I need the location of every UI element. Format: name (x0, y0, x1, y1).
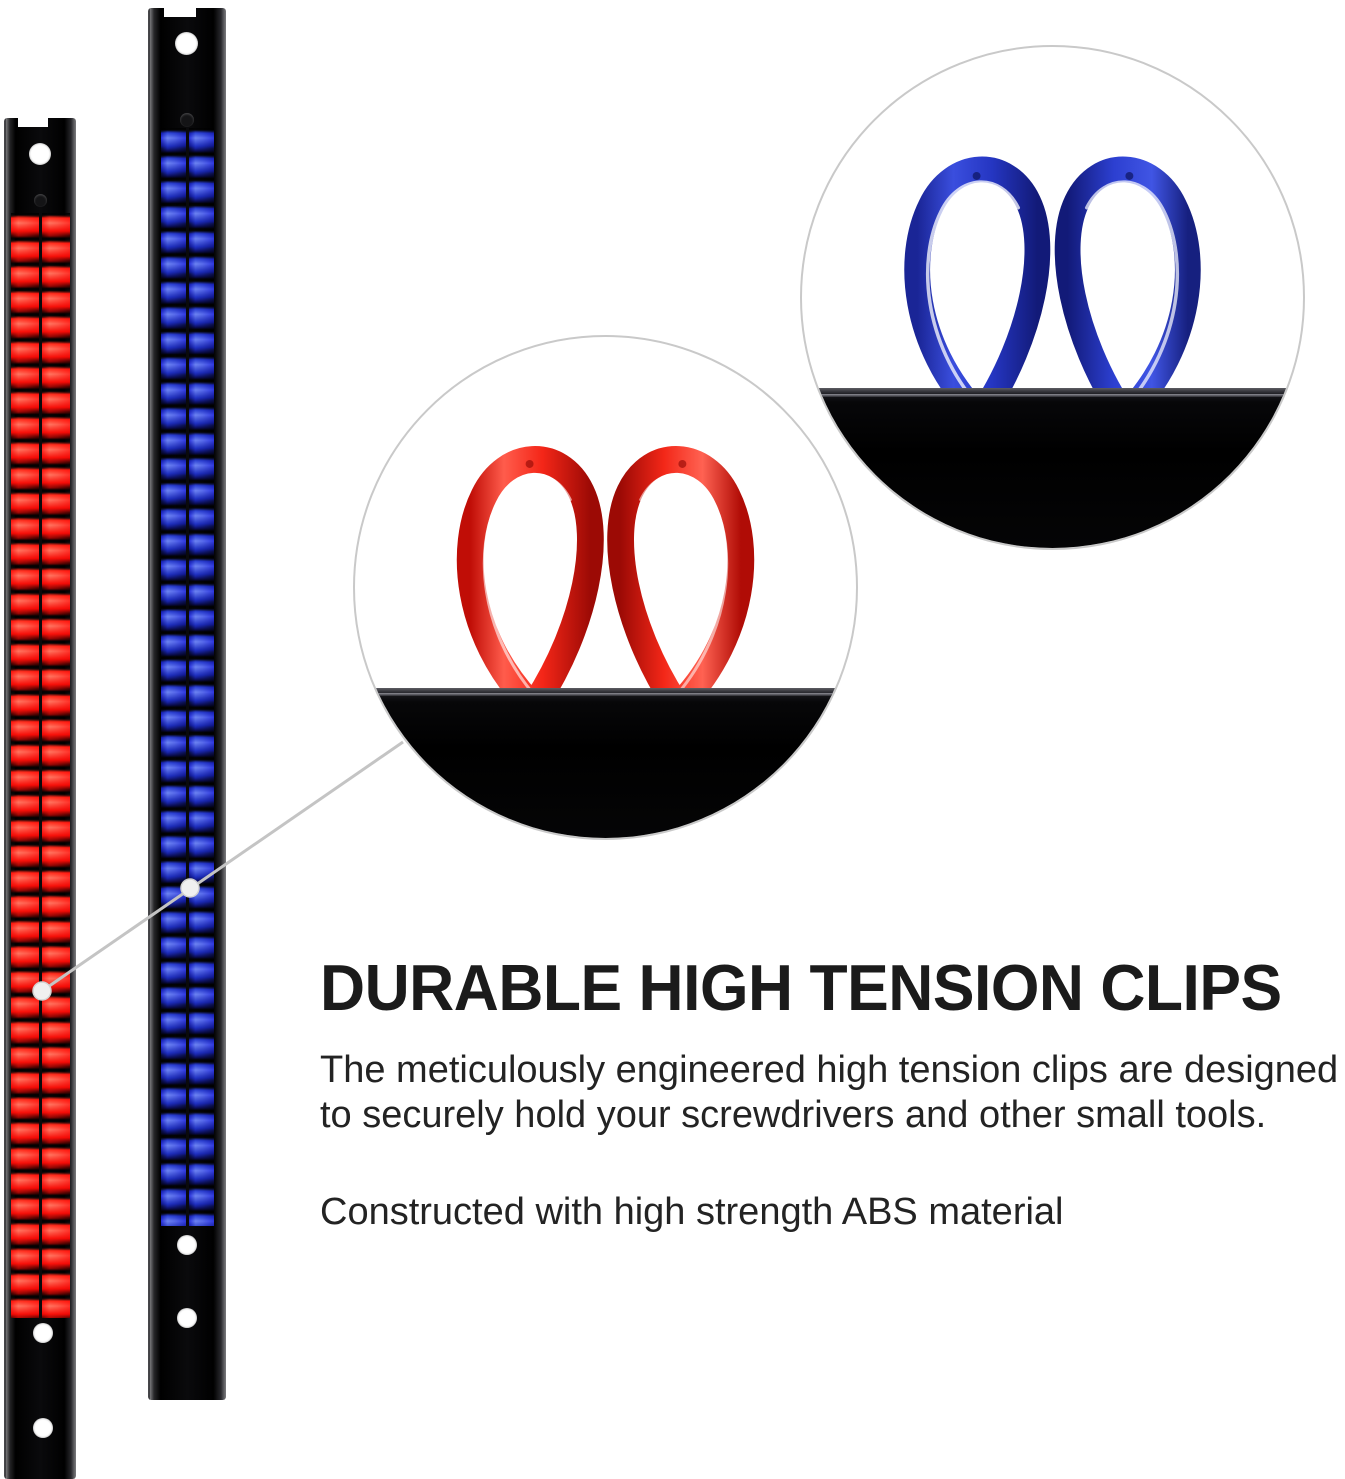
blue-clip-detail (800, 45, 1305, 550)
red-clip-bank (11, 213, 70, 1318)
red-detail-rail-edge (353, 693, 858, 696)
mount-hole-top-blue (175, 32, 198, 55)
rail-sheen-blue-right (221, 8, 226, 1400)
infographic-canvas: DURABLE HIGH TENSION CLIPS The meticulou… (0, 0, 1345, 1479)
mount-hole-top-red (29, 143, 51, 165)
mount-hole-bottom-red (33, 1418, 53, 1438)
blue-screwdriver-rail (148, 8, 226, 1400)
blue-detail-rail-edge (800, 394, 1305, 397)
rail-top-notch-blue (164, 8, 196, 17)
mount-hole-lower-blue (177, 1235, 197, 1255)
blue-clip-bank (161, 128, 214, 1226)
rail-sheen-red-right (71, 118, 76, 1479)
material-description: Constructed with high strength ABS mater… (320, 1190, 1342, 1235)
mount-hole-bottom-blue (177, 1308, 197, 1328)
red-clip-detail (353, 335, 858, 840)
red-screwdriver-rail (4, 118, 76, 1479)
red-detail-rail-base (353, 688, 858, 838)
rail-top-notch-red (18, 118, 48, 127)
rail-sheen-red (6, 118, 10, 1479)
blue-clip-loop-right (1068, 169, 1188, 412)
mount-recess-red (34, 194, 47, 207)
blue-clip-column-left (161, 128, 186, 1226)
feature-text-block: DURABLE HIGH TENSION CLIPS The meticulou… (320, 952, 1342, 1235)
feature-description: The meticulously engineered high tension… (320, 1048, 1342, 1138)
red-clip-loop-right (621, 459, 741, 702)
rail-sheen-blue (150, 8, 154, 1400)
page-title: DURABLE HIGH TENSION CLIPS (320, 952, 1301, 1024)
blue-clip-column-right (189, 128, 214, 1226)
red-clip-loop-left (470, 459, 590, 702)
mount-recess-blue (180, 113, 194, 127)
red-clip-column-right (42, 213, 70, 1318)
mount-hole-lower-red (33, 1323, 53, 1343)
blue-clip-loop-left (917, 169, 1037, 412)
red-clip-column-left (11, 213, 39, 1318)
blue-detail-rail-base (800, 388, 1305, 548)
